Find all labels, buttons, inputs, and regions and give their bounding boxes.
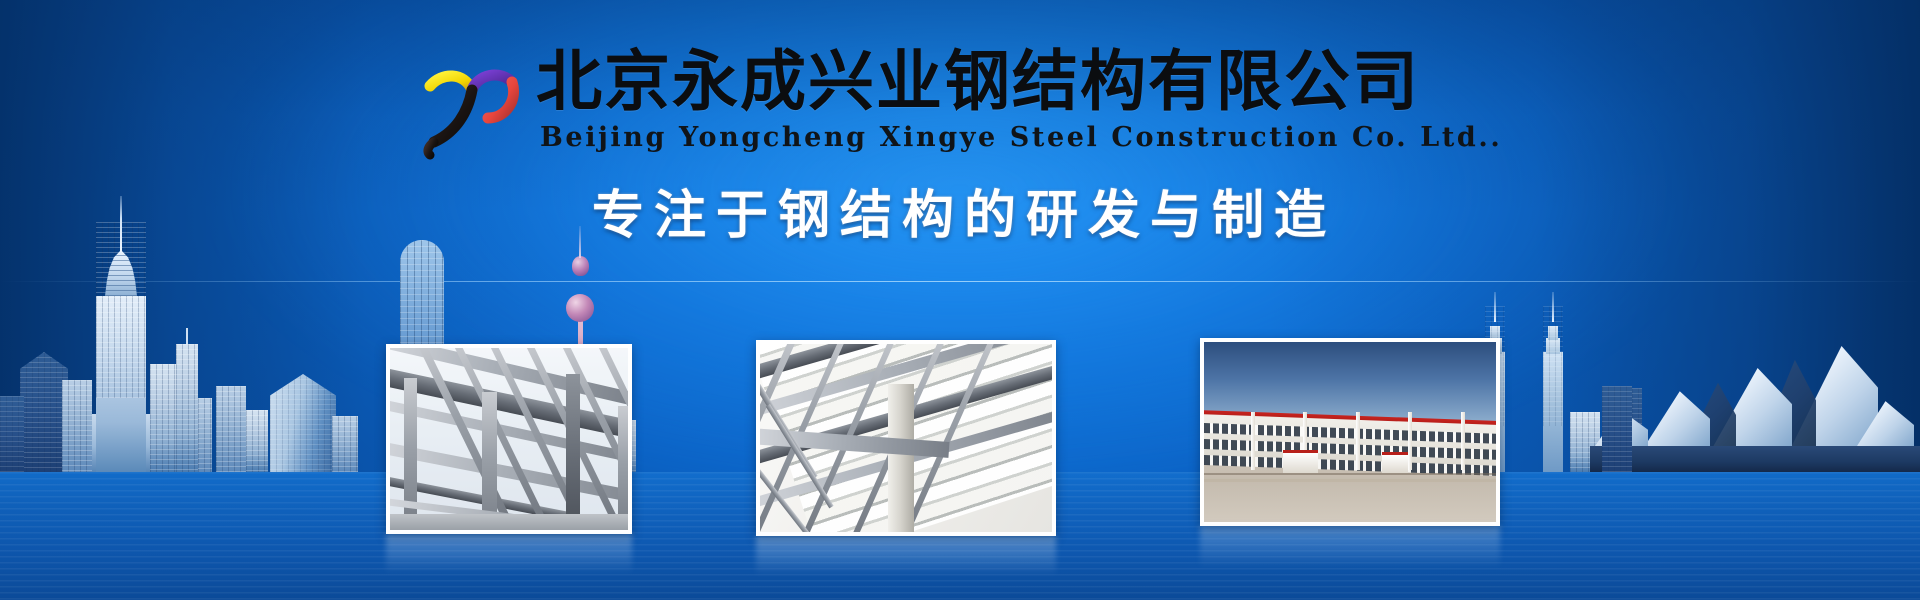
company-name-cn: 北京永成兴业钢结构有限公司 (536, 48, 1420, 114)
logo-stroke-dark (434, 90, 472, 142)
petronas-tower-2-icon (1540, 306, 1566, 472)
photo-roof-truss-skylight[interactable] (756, 340, 1056, 536)
sydney-opera-house-icon (1590, 340, 1920, 472)
company-banner: 北京永成兴业钢结构有限公司 Beijing Yongcheng Xingye S… (0, 0, 1920, 600)
photo-reflection-glow (756, 536, 1056, 576)
logo-stroke-red (488, 82, 514, 118)
sydney-background-tower-icon (1602, 386, 1632, 472)
photo-factory-workshop[interactable] (1200, 338, 1500, 526)
photo-steel-beam-frame[interactable] (386, 344, 632, 534)
logo-stroke-yellow (430, 76, 472, 90)
company-logo (420, 56, 524, 160)
company-slogan: 专注于钢结构的研发与制造 (592, 190, 1336, 242)
logo-stroke-purple (472, 75, 512, 90)
company-name-en: Beijing Yongcheng Xingye Steel Construct… (540, 124, 1502, 151)
photo-reflection-glow (1200, 526, 1500, 568)
photo-reflection-glow (386, 534, 632, 574)
logo-stroke-dark-hook (428, 142, 434, 155)
